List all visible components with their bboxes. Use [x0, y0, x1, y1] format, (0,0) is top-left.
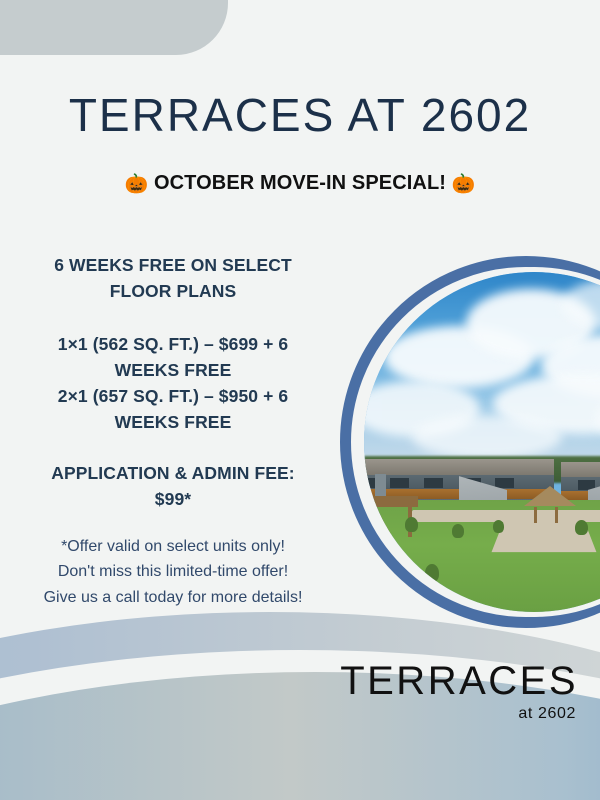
floor-plan-1-line-2: WEEKS FREE	[8, 357, 338, 383]
building-roof	[364, 459, 554, 475]
shrub	[425, 564, 439, 582]
spacer	[8, 305, 338, 331]
floor-plan-2-line-1: 2×1 (657 SQ. FT.) – $950 + 6	[8, 383, 338, 409]
fineprint-line-3: Give us a call today for more details!	[8, 585, 338, 610]
page-title: TERRACES AT 2602	[0, 92, 600, 138]
shrub	[405, 517, 418, 532]
fineprint-block: *Offer valid on select units only! Don't…	[8, 534, 338, 610]
fee-label: APPLICATION & ADMIN FEE:	[8, 460, 338, 486]
fee-block: APPLICATION & ADMIN FEE: $99*	[8, 460, 338, 513]
offer-headline-line-2: FLOOR PLANS	[8, 278, 338, 304]
window	[390, 478, 409, 488]
floor-plan-1-line-1: 1×1 (562 SQ. FT.) – $699 + 6	[8, 331, 338, 357]
brand-logo-name: TERRACES	[340, 661, 578, 701]
floor-plan-2-line-2: WEEKS FREE	[8, 409, 338, 435]
gazebo-roof	[524, 486, 576, 506]
promo-subtitle-text: OCTOBER MOVE-IN SPECIAL!	[154, 172, 446, 194]
promo-subtitle: 🎃 OCTOBER MOVE-IN SPECIAL! 🎃	[0, 172, 600, 196]
top-left-corner-shape	[0, 0, 228, 55]
brand-logo-tagline: at 2602	[340, 706, 576, 722]
property-photo-inner	[364, 272, 600, 612]
pumpkin-icon-left: 🎃	[125, 174, 149, 195]
shrub	[452, 524, 464, 538]
window	[364, 478, 375, 488]
pergola-post	[371, 503, 375, 544]
gazebo-body	[534, 507, 558, 523]
cloud-shape	[412, 415, 562, 459]
offer-headline-line-1: 6 WEEKS FREE ON SELECT	[8, 252, 338, 278]
floor-plan-list: 1×1 (562 SQ. FT.) – $699 + 6 WEEKS FREE …	[8, 331, 338, 436]
fee-amount: $99*	[8, 486, 338, 512]
shrub	[493, 520, 504, 533]
flyer-canvas: TERRACES AT 2602 🎃 OCTOBER MOVE-IN SPECI…	[0, 0, 600, 800]
window	[424, 478, 443, 488]
offer-headline: 6 WEEKS FREE ON SELECT FLOOR PLANS	[8, 252, 338, 305]
brand-logo: TERRACES at 2602	[340, 661, 578, 722]
fineprint-line-2: Don't miss this limited-time offer!	[8, 559, 338, 584]
offer-copy-column: 6 WEEKS FREE ON SELECT FLOOR PLANS 1×1 (…	[8, 252, 338, 610]
fineprint-line-1: *Offer valid on select units only!	[8, 534, 338, 559]
building-roof	[561, 462, 600, 477]
shrub	[575, 520, 588, 535]
pumpkin-icon-right: 🎃	[452, 174, 476, 195]
spacer	[8, 436, 338, 460]
property-photo	[364, 272, 600, 612]
